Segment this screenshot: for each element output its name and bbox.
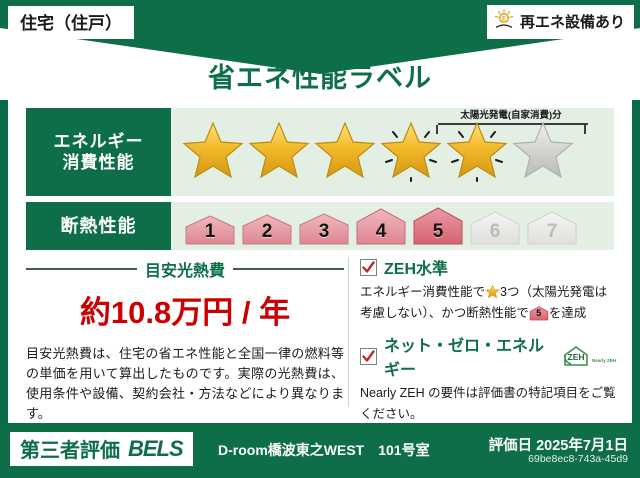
renewable-equipment-label: 再エネ設備あり [520, 11, 625, 32]
insulation-badge-number: 4 [354, 221, 408, 243]
insulation-performance-row: 断熱性能 [26, 202, 614, 250]
evaluation-date: 評価日 2025年7月1日 [489, 434, 628, 455]
insulation-badge-number: 1 [183, 221, 237, 243]
bels-mark-label: BELS [128, 436, 183, 462]
claim-zeh-standard-title: ZEH水準 [384, 255, 448, 279]
utility-cost-value: 約10.8万円 / 年 [26, 287, 344, 332]
label-header: 住宅（住戸） E 再エネ設備あり 建築物省エネ法に基づく 省エネ性能ラベル [0, 0, 640, 100]
zeh-logo-sub: Nearly ZEH [592, 358, 616, 368]
claim-zeh-standard-head: ZEH水準 [360, 255, 616, 279]
bels-prefix-label: 第三者評価 [20, 434, 120, 463]
evaluation-date-value: 2025年7月1日 [536, 438, 628, 454]
insulation-badge-number: 2 [240, 221, 294, 243]
star-icon-solar [445, 118, 509, 182]
utility-cost-heading-label: 目安光熱費 [145, 257, 225, 281]
insulation-badge: 6 [468, 207, 522, 247]
utility-cost-heading: 目安光熱費 [26, 257, 344, 281]
property-name: D-room橋波東之WEST 101号室 [218, 440, 430, 460]
checkmark-icon [360, 348, 377, 365]
label-subtitle: 建築物省エネ法に基づく [0, 38, 640, 58]
insulation-performance-label: 断熱性能 [26, 202, 171, 250]
claim-zeh-standard: ZEH水準 エネルギー消費性能で 3つ（太陽光発電は考慮しない）、かつ断熱性能で… [360, 255, 616, 323]
label-card: エネルギー 消費性能 太陽光発電(自家消費)分 [8, 100, 632, 423]
zeh-house-logo: ZEH Nearly ZEH [561, 344, 616, 368]
energy-performance-row: エネルギー 消費性能 太陽光発電(自家消費)分 [26, 108, 614, 196]
energy-performance-label: エネルギー 消費性能 [26, 108, 171, 196]
zeh-logo-text: ZEH [567, 352, 584, 362]
svg-text:E: E [502, 16, 506, 22]
house-badge-icon: 5 [529, 305, 549, 321]
claim-net-zero-energy-head: ネット・ゼロ・エネルギー ZEH Nearly ZEH [360, 332, 616, 380]
insulation-badge-number: 3 [297, 221, 351, 243]
label-footer: 第三者評価 BELS D-room橋波東之WEST 101号室 評価日 2025… [0, 423, 640, 478]
house-type-tag: 住宅（住戸） [8, 6, 134, 39]
star-rating [181, 118, 575, 182]
house-type-label: 住宅（住戸） [20, 14, 122, 33]
evaluation-id: 69be8ec8-743a-45d9 [528, 453, 628, 465]
insulation-badge-list: 1 2 3 4 [183, 205, 579, 247]
claim-body-part1: エネルギー消費性能で [360, 285, 485, 299]
claim-net-zero-energy: ネット・ゼロ・エネルギー ZEH Nearly ZEH Nearly ZEH の… [360, 332, 616, 424]
energy-stars-panel: 太陽光発電(自家消費)分 [171, 108, 614, 196]
insulation-badge-number: 6 [468, 221, 522, 243]
claim-body-part3: を達成 [549, 306, 587, 320]
star-icon [485, 284, 500, 299]
inline-badge-number: 5 [529, 306, 549, 321]
evaluation-date-label: 評価日 [489, 438, 533, 454]
energy-label-line1: エネルギー [54, 131, 144, 152]
insulation-badges-panel: 1 2 3 4 [171, 202, 614, 250]
claims-section: ZEH水準 エネルギー消費性能で 3つ（太陽光発電は考慮しない）、かつ断熱性能で… [360, 255, 616, 429]
insulation-badge-number: 5 [411, 221, 465, 243]
insulation-badge: 7 [525, 207, 579, 247]
utility-cost-section: 目安光熱費 約10.8万円 / 年 目安光熱費は、住宅の省エネ性能と全国一律の燃… [26, 255, 344, 425]
rule-right [233, 268, 344, 270]
insulation-badge: 3 [297, 207, 351, 247]
insulation-badge: 2 [240, 207, 294, 247]
insulation-badge: 4 [354, 205, 408, 247]
star-icon [247, 118, 311, 182]
star-icon-empty [511, 118, 575, 182]
utility-cost-note: 目安光熱費は、住宅の省エネ性能と全国一律の燃料等の単価を用いて算出したものです。… [26, 344, 344, 425]
claim-net-zero-energy-body: Nearly ZEH の要件は評価書の特記項目をご覧ください。 [360, 383, 616, 424]
label-lower-section: 目安光熱費 約10.8万円 / 年 目安光熱費は、住宅の省エネ性能と全国一律の燃… [8, 255, 632, 423]
bels-badge: 第三者評価 BELS [10, 432, 193, 466]
energy-label-line2: 消費性能 [63, 152, 135, 173]
checkmark-icon [360, 259, 377, 276]
insulation-badge: 5 [411, 205, 465, 247]
rule-left [26, 268, 137, 270]
star-icon [181, 118, 245, 182]
renewable-equipment-tag: E 再エネ設備あり [487, 5, 634, 39]
section-divider [348, 257, 349, 407]
star-icon-solar [379, 118, 443, 182]
insulation-badge-number: 7 [525, 221, 579, 243]
insulation-badge: 1 [183, 207, 237, 247]
claim-zeh-standard-body: エネルギー消費性能で 3つ（太陽光発電は考慮しない）、かつ断熱性能で 5 を達成 [360, 282, 616, 323]
label-title: 省エネ性能ラベル [0, 56, 640, 95]
star-icon [313, 118, 377, 182]
claim-net-zero-energy-title: ネット・ゼロ・エネルギー [384, 332, 550, 380]
sun-renewable-icon: E [493, 8, 515, 35]
